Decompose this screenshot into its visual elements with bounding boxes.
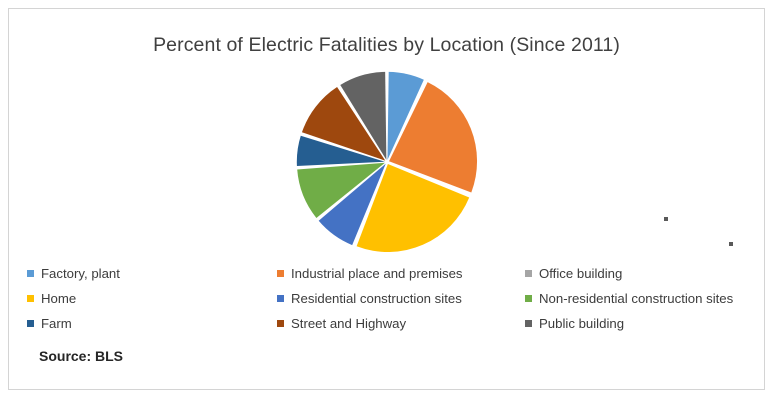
legend-item[interactable]: Industrial place and premises [277, 266, 525, 281]
legend-item-label: Non-residential construction sites [539, 291, 733, 306]
legend-item-label: Home [41, 291, 76, 306]
chart-legend: Factory, plantIndustrial place and premi… [27, 261, 767, 336]
legend-item-label: Street and Highway [291, 316, 406, 331]
legend-swatch-icon [277, 270, 284, 277]
legend-item-label: Factory, plant [41, 266, 120, 281]
pie-chart-svg [287, 67, 489, 257]
legend-swatch-icon [27, 320, 34, 327]
legend-item-label: Office building [539, 266, 622, 281]
legend-item[interactable]: Street and Highway [277, 316, 525, 331]
legend-swatch-icon [277, 320, 284, 327]
legend-swatch-icon [277, 295, 284, 302]
chart-card: Percent of Electric Fatalities by Locati… [8, 8, 765, 390]
chart-title: Percent of Electric Fatalities by Locati… [9, 34, 764, 57]
legend-item[interactable]: Non-residential construction sites [525, 291, 767, 306]
stray-marker-icon [729, 242, 733, 246]
legend-item[interactable]: Farm [27, 316, 277, 331]
legend-swatch-icon [525, 270, 532, 277]
legend-item[interactable]: Factory, plant [27, 266, 277, 281]
legend-swatch-icon [525, 320, 532, 327]
legend-swatch-icon [525, 295, 532, 302]
pie-chart [287, 67, 489, 257]
legend-item-label: Residential construction sites [291, 291, 462, 306]
legend-swatch-icon [27, 270, 34, 277]
legend-item[interactable]: Office building [525, 266, 767, 281]
legend-item-label: Industrial place and premises [291, 266, 463, 281]
legend-swatch-icon [27, 295, 34, 302]
source-note: Source: BLS [39, 348, 123, 364]
stray-marker-icon [664, 217, 668, 221]
legend-item-label: Public building [539, 316, 624, 331]
legend-item[interactable]: Home [27, 291, 277, 306]
legend-item-label: Farm [41, 316, 72, 331]
legend-item[interactable]: Residential construction sites [277, 291, 525, 306]
legend-item[interactable]: Public building [525, 316, 767, 331]
screenshot-root: Percent of Electric Fatalities by Locati… [0, 0, 775, 400]
